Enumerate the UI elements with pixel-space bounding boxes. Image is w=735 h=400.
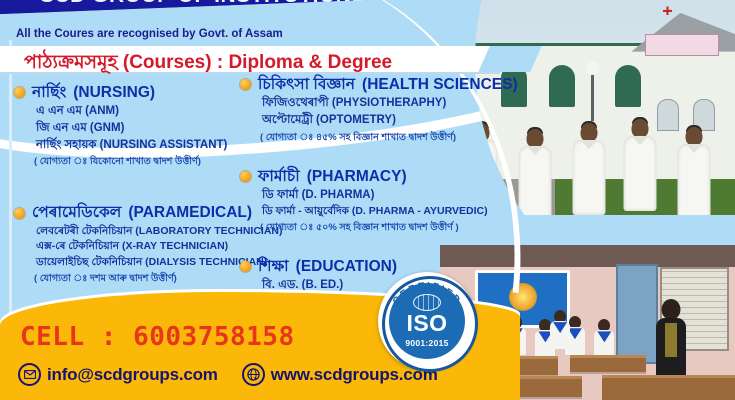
nurse-uniform (519, 146, 552, 215)
course-item: জি এন এম (GNM) (36, 121, 254, 135)
cell-number-line: CELL : 6003758158 (20, 322, 295, 352)
contact-row: info@scdgroups.com www.scdgroups.com (18, 363, 438, 386)
student-figure (549, 310, 571, 356)
course-item: ডি ফাৰ্মা - আয়ুৰ্বেদিক (D. PHARMA - AYU… (262, 205, 490, 218)
institution-logo (509, 283, 537, 311)
teacher-head (661, 299, 680, 320)
course-eligibility-note: ( যোগ্যতা ঃ ৪৫% সহ বিজ্ঞান শাখাত দ্বাদশ … (260, 131, 490, 146)
course-item: ডায়েলাইচিছ টেকনিচিয়ান (DIALYSIS TECHNI… (36, 256, 254, 269)
teacher-scarf (665, 323, 677, 357)
course-eligibility-note: ( যোগ্যতা ঃ যিকোনো শাখাত দ্বাদশ উত্তীর্ণ… (34, 155, 254, 170)
envelope-icon (18, 363, 41, 386)
course-heading-en: (PARAMEDICAL) (128, 204, 252, 222)
globe-icon (242, 363, 265, 386)
course-item: ডি ফাৰ্মা (D. PHARMA) (262, 188, 490, 202)
building-arch (549, 65, 575, 107)
iso-certified-badge: CERTIFIED ISO 9001:2015 (378, 272, 476, 370)
bullet-icon (240, 261, 251, 272)
course-item: ফিজিওথেৰাপী (PHYSIOTHERAPHY) (262, 96, 490, 110)
course-paramedical: পেৰামেডিকেল (PARAMEDICAL) লেবৰেটৰী টেকনি… (14, 204, 254, 287)
cell-number: 6003758158 (133, 322, 295, 352)
page-title-en: (Courses) : Diploma & Degree (123, 52, 392, 73)
iso-globe-icon (413, 294, 441, 311)
page-title: পাঠ্যক্রমসমূহ (Courses) : Diploma & Degr… (24, 48, 392, 80)
hospital-signboard (645, 34, 719, 55)
course-heading-en: (NURSING) (73, 84, 155, 102)
course-heading-bn: ফাৰ্মাচী (258, 168, 300, 186)
page-title-bn: পাঠ্যক্রমসমূহ (24, 52, 118, 73)
courses-column-left: নার্ছিং (NURSING) এ এন এম (ANM) জি এন এম… (14, 84, 254, 301)
course-heading-en: (EDUCATION) (296, 258, 397, 276)
nurse-uniform (573, 140, 606, 215)
bullet-icon (14, 208, 25, 219)
bullet-icon (240, 171, 251, 182)
nurse-figure (513, 129, 557, 215)
nurse-uniform (624, 136, 657, 211)
classroom-desk (602, 375, 735, 400)
email-text[interactable]: info@scdgroups.com (47, 365, 218, 385)
course-pharmacy: ফাৰ্মাচী (PHARMACY) ডি ফাৰ্মা (D. PHARMA… (240, 168, 490, 236)
course-heading-bn: পেৰামেডিকেল (32, 204, 121, 222)
course-heading-bn: নার্ছিং (32, 84, 66, 102)
course-heading: ফাৰ্মাচী (PHARMACY) (240, 168, 490, 186)
course-heading: পেৰামেডিকেল (PARAMEDICAL) (14, 204, 254, 222)
course-poster: SCD GROUP OF INSTITUTIONS (0, 0, 735, 400)
recognition-note: All the Coures are recognised by Govt. o… (16, 28, 283, 40)
course-eligibility-note: ( যোগ্যতা ঃ ৫০% সহ বিজ্ঞান শাখাত দ্বাদশ … (260, 221, 490, 236)
course-eligibility-note: ( যোগ্যতা ঃ দশম আৰু দ্বাদশ উত্তীর্ণ) (34, 272, 254, 287)
course-item: অপ্টোমেট্ৰী (OPTOMETRY) (262, 113, 490, 127)
cell-label: CELL : (20, 322, 117, 352)
nurse-figure (618, 119, 662, 211)
iso-core: ISO 9001:2015 (389, 283, 465, 359)
course-nursing: নার্ছিং (NURSING) এ এন এম (ANM) জি এন এম… (14, 84, 254, 170)
course-heading-en: (PHARMACY) (307, 168, 407, 186)
course-health-sciences: চিকিৎসা বিজ্ঞান (HEALTH SCIENCES) ফিজিওথ… (240, 76, 490, 146)
course-heading: নার্ছিং (NURSING) (14, 84, 254, 102)
bullet-icon (14, 87, 25, 98)
course-heading: শিক্ষা (EDUCATION) (240, 258, 490, 276)
street-lamp (591, 73, 594, 121)
course-item: লেবৰেটৰী টেকনিচিয়ান (LABORATORY TECHNIC… (36, 225, 254, 238)
nurse-figure (567, 123, 611, 215)
nurse-figure (672, 127, 716, 215)
course-item: এক্স-ৰে টেকনিচিয়ান (X-RAY TECHNICIAN) (36, 240, 254, 253)
left-accent-stripe (9, 40, 12, 315)
course-item: এ এন এম (ANM) (36, 104, 254, 118)
building-arch (615, 65, 641, 107)
iso-label: ISO (406, 312, 447, 335)
iso-standard: 9001:2015 (405, 338, 448, 348)
course-heading-bn: শিক্ষা (258, 258, 289, 276)
classroom-desk (570, 355, 647, 372)
classroom-door (616, 264, 658, 364)
bullet-icon (240, 79, 251, 90)
nurse-uniform (678, 144, 711, 215)
course-item: নার্ছিং সহায়ক (NURSING ASSISTANT) (36, 138, 254, 152)
